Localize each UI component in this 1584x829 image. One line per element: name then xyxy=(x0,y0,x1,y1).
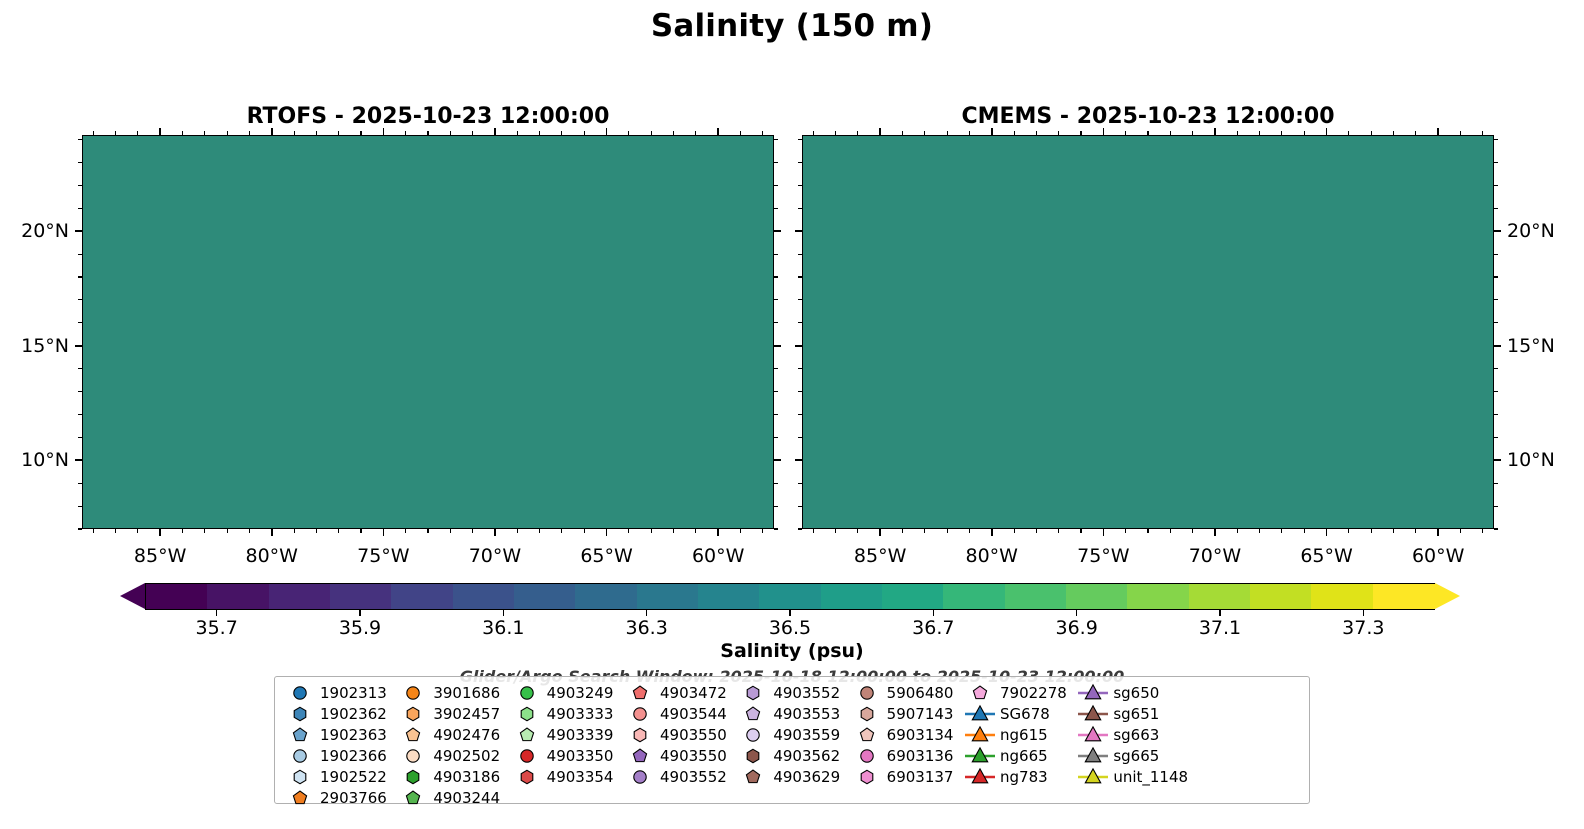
argo-float-marker-icon xyxy=(510,746,544,766)
x-axis-tick-label: 60°W xyxy=(692,545,744,567)
x-axis-major-tick xyxy=(606,128,608,135)
colorbar-segment xyxy=(146,584,208,609)
colorbar-tick xyxy=(503,610,504,616)
y-axis-minor-tick xyxy=(78,254,82,255)
x-axis-minor-tick xyxy=(472,529,473,533)
x-axis-minor-tick xyxy=(1036,131,1037,135)
legend-item[interactable]: sg651 xyxy=(1076,703,1189,724)
x-axis-minor-tick xyxy=(427,131,428,135)
salinity-field-cmems xyxy=(803,136,1493,529)
y-axis-minor-tick xyxy=(78,185,82,186)
colorbar-tick xyxy=(359,610,360,616)
y-axis-minor-tick xyxy=(798,139,802,140)
x-axis-minor-tick xyxy=(857,529,858,533)
colorbar-tick xyxy=(1076,610,1077,616)
legend-item[interactable]: 4903339 xyxy=(510,724,623,745)
legend-item[interactable]: 1902313 xyxy=(283,682,396,703)
colorbar-tick xyxy=(216,610,217,616)
legend-item-label: ng783 xyxy=(997,768,1048,786)
colorbar-tick-label: 37.3 xyxy=(1342,617,1384,639)
colorbar-segment xyxy=(1373,584,1435,609)
x-axis-minor-tick xyxy=(1170,529,1171,533)
x-axis-minor-tick xyxy=(584,529,585,533)
y-axis-minor-tick xyxy=(1494,528,1498,529)
x-axis-minor-tick xyxy=(93,131,94,135)
argo-float-marker-icon xyxy=(736,746,770,766)
x-axis-minor-tick xyxy=(360,131,361,135)
x-axis-minor-tick xyxy=(1281,131,1282,135)
x-axis-minor-tick xyxy=(695,131,696,135)
x-axis-major-tick xyxy=(1214,529,1216,536)
map-panel-rtofs: RTOFS - 2025-10-23 12:00:00 85°W80°W75°W… xyxy=(82,135,774,529)
y-axis-minor-tick xyxy=(1494,254,1498,255)
legend-item-label: 4903629 xyxy=(770,768,840,786)
legend-item[interactable]: SG678 xyxy=(963,703,1076,724)
x-axis-major-tick xyxy=(1326,529,1328,536)
x-axis-minor-tick xyxy=(249,529,250,533)
map-axes-rtofs[interactable] xyxy=(82,135,774,529)
legend-item-label: 6903137 xyxy=(884,768,954,786)
y-axis-minor-tick xyxy=(78,208,82,209)
legend-item[interactable]: ng783 xyxy=(963,766,1076,787)
x-axis-minor-tick xyxy=(1460,529,1461,533)
legend-item[interactable]: 4903544 xyxy=(623,703,736,724)
legend-item[interactable]: 6903134 xyxy=(850,724,963,745)
legend-item[interactable]: 6903136 xyxy=(850,745,963,766)
colorbar-segment xyxy=(821,584,883,609)
x-axis-minor-tick xyxy=(115,529,116,533)
legend-item[interactable]: 7902278 xyxy=(963,682,1076,703)
glider-marker-icon xyxy=(1076,704,1110,724)
x-axis-minor-tick xyxy=(561,131,562,135)
x-axis-major-tick xyxy=(159,128,161,135)
y-axis-major-tick xyxy=(75,345,82,347)
colorbar-tick-label: 36.3 xyxy=(626,617,668,639)
x-axis-minor-tick xyxy=(969,131,970,135)
x-axis-major-tick xyxy=(494,128,496,135)
x-axis-minor-tick xyxy=(651,131,652,135)
platform-legend[interactable]: 1902313190236219023631902366190252229037… xyxy=(274,676,1310,804)
legend-item[interactable]: 4903472 xyxy=(623,682,736,703)
y-axis-tick-label: 15°N xyxy=(21,335,69,357)
y-axis-minor-tick xyxy=(774,299,778,300)
legend-item-label: 4903550 xyxy=(657,747,727,765)
x-axis-minor-tick xyxy=(517,529,518,533)
y-axis-tick-label: 15°N xyxy=(1507,335,1555,357)
y-axis-minor-tick xyxy=(798,254,802,255)
x-axis-minor-tick xyxy=(628,131,629,135)
legend-item-label: 1902522 xyxy=(317,768,387,786)
figure-suptitle: Salinity (150 m) xyxy=(0,8,1584,44)
legend-item[interactable]: 3901686 xyxy=(396,682,509,703)
x-axis-minor-tick xyxy=(740,529,741,533)
legend-item[interactable]: 5907143 xyxy=(850,703,963,724)
y-axis-tick-label: 10°N xyxy=(21,449,69,471)
x-axis-minor-tick xyxy=(902,529,903,533)
legend-item[interactable]: 1902366 xyxy=(283,745,396,766)
x-axis-major-tick xyxy=(1103,529,1105,536)
legend-item-label: 6903134 xyxy=(884,726,954,744)
x-axis-tick-label: 85°W xyxy=(134,545,186,567)
argo-float-marker-icon xyxy=(396,725,430,745)
map-axes-cmems[interactable] xyxy=(802,135,1494,529)
x-axis-minor-tick xyxy=(1281,529,1282,533)
legend-item-label: sg651 xyxy=(1110,705,1159,723)
legend-item[interactable]: 4903550 xyxy=(623,724,736,745)
argo-float-marker-icon xyxy=(850,725,884,745)
colorbar-tick-label: 36.5 xyxy=(769,617,811,639)
x-axis-minor-tick xyxy=(1170,131,1171,135)
legend-item[interactable]: 4903186 xyxy=(396,766,509,787)
y-axis-minor-tick xyxy=(1494,437,1498,438)
y-axis-minor-tick xyxy=(798,322,802,323)
x-axis-minor-tick xyxy=(227,529,228,533)
colorbar-tick xyxy=(1219,610,1220,616)
y-axis-minor-tick xyxy=(78,506,82,507)
legend-item[interactable]: 3902457 xyxy=(396,703,509,724)
legend-item[interactable]: 4903550 xyxy=(623,745,736,766)
y-axis-tick-label: 20°N xyxy=(21,220,69,242)
x-axis-minor-tick xyxy=(1371,131,1372,135)
colorbar-segment xyxy=(1311,584,1373,609)
y-axis-major-tick xyxy=(795,345,802,347)
y-axis-minor-tick xyxy=(798,185,802,186)
glider-marker-icon xyxy=(963,767,997,787)
legend-item[interactable]: 4903350 xyxy=(510,745,623,766)
y-axis-major-tick xyxy=(795,459,802,461)
x-axis-minor-tick xyxy=(1058,131,1059,135)
x-axis-minor-tick xyxy=(316,529,317,533)
legend-item-label: 4903333 xyxy=(544,705,614,723)
figure-canvas: Salinity (150 m) RTOFS - 2025-10-23 12:0… xyxy=(0,0,1584,829)
x-axis-minor-tick xyxy=(857,131,858,135)
legend-item[interactable]: unit_1148 xyxy=(1076,766,1189,787)
salinity-field-rtofs xyxy=(83,136,773,529)
y-axis-minor-tick xyxy=(798,437,802,438)
x-axis-tick-label: 75°W xyxy=(1077,545,1129,567)
y-axis-minor-tick xyxy=(774,139,778,140)
colorbar-segment xyxy=(330,584,392,609)
y-axis-minor-tick xyxy=(774,483,778,484)
y-axis-minor-tick xyxy=(1494,391,1498,392)
argo-float-marker-icon xyxy=(283,746,317,766)
y-axis-major-tick xyxy=(774,345,781,347)
y-axis-minor-tick xyxy=(774,391,778,392)
x-axis-major-tick xyxy=(383,529,385,536)
colorbar-tick-label: 36.7 xyxy=(912,617,954,639)
x-axis-minor-tick xyxy=(360,529,361,533)
x-axis-minor-tick xyxy=(1080,131,1081,135)
x-axis-major-tick xyxy=(271,529,273,536)
x-axis-tick-label: 70°W xyxy=(1189,545,1241,567)
y-axis-minor-tick xyxy=(798,162,802,163)
legend-spacer xyxy=(623,787,736,808)
legend-item[interactable]: 4902476 xyxy=(396,724,509,745)
legend-item[interactable]: 4903629 xyxy=(736,766,849,787)
y-axis-minor-tick xyxy=(774,414,778,415)
x-axis-minor-tick xyxy=(762,529,763,533)
colorbar-segment xyxy=(759,584,821,609)
panel-title-cmems: CMEMS - 2025-10-23 12:00:00 xyxy=(802,104,1494,129)
x-axis-minor-tick xyxy=(338,131,339,135)
x-axis-major-tick xyxy=(383,128,385,135)
x-axis-minor-tick xyxy=(1237,529,1238,533)
x-axis-minor-tick xyxy=(249,131,250,135)
x-axis-tick-label: 60°W xyxy=(1412,545,1464,567)
x-axis-tick-label: 65°W xyxy=(580,545,632,567)
x-axis-minor-tick xyxy=(1192,131,1193,135)
legend-item[interactable]: 4903559 xyxy=(736,724,849,745)
argo-float-marker-icon xyxy=(283,725,317,745)
x-axis-minor-tick xyxy=(924,529,925,533)
legend-item-label: 4903339 xyxy=(544,726,614,744)
x-axis-minor-tick xyxy=(1348,131,1349,135)
y-axis-minor-tick xyxy=(1494,208,1498,209)
x-axis-minor-tick xyxy=(182,131,183,135)
x-axis-minor-tick xyxy=(1237,131,1238,135)
legend-item[interactable]: 4903552 xyxy=(623,766,736,787)
colorbar-gradient xyxy=(145,583,1435,610)
y-axis-minor-tick xyxy=(774,506,778,507)
y-axis-minor-tick xyxy=(78,483,82,484)
legend-item[interactable]: 4903244 xyxy=(396,787,509,808)
x-axis-minor-tick xyxy=(740,131,741,135)
y-axis-minor-tick xyxy=(1494,276,1498,277)
argo-float-marker-icon xyxy=(623,683,657,703)
y-axis-minor-tick xyxy=(78,528,82,529)
argo-float-marker-icon xyxy=(850,683,884,703)
argo-float-marker-icon xyxy=(510,767,544,787)
argo-float-marker-icon xyxy=(850,746,884,766)
x-axis-minor-tick xyxy=(1393,529,1394,533)
legend-item[interactable]: 4903249 xyxy=(510,682,623,703)
x-axis-major-tick xyxy=(991,529,993,536)
legend-item-label: 1902366 xyxy=(317,747,387,765)
colorbar-tick xyxy=(933,610,934,616)
legend-spacer xyxy=(1076,787,1189,808)
colorbar-segment xyxy=(1189,584,1251,609)
legend-item[interactable]: 6903137 xyxy=(850,766,963,787)
legend-item-label: 4902502 xyxy=(430,747,500,765)
argo-float-marker-icon xyxy=(736,704,770,724)
x-axis-minor-tick xyxy=(1014,131,1015,135)
argo-float-marker-icon xyxy=(283,767,317,787)
argo-float-marker-icon xyxy=(396,683,430,703)
legend-item-label: sg650 xyxy=(1110,684,1159,702)
colorbar-tick xyxy=(789,610,790,616)
colorbar-tick-label: 37.1 xyxy=(1199,617,1241,639)
x-axis-minor-tick xyxy=(1415,131,1416,135)
x-axis-minor-tick xyxy=(1259,529,1260,533)
x-axis-major-tick xyxy=(717,128,719,135)
x-axis-tick-label: 75°W xyxy=(357,545,409,567)
x-axis-minor-tick xyxy=(1014,529,1015,533)
x-axis-minor-tick xyxy=(1304,131,1305,135)
legend-item[interactable]: 4903562 xyxy=(736,745,849,766)
y-axis-minor-tick xyxy=(78,414,82,415)
x-axis-minor-tick xyxy=(1147,131,1148,135)
legend-item-label: 4903544 xyxy=(657,705,727,723)
legend-spacer xyxy=(736,787,849,808)
legend-item[interactable]: 1902362 xyxy=(283,703,396,724)
y-axis-minor-tick xyxy=(78,162,82,163)
legend-item[interactable]: sg665 xyxy=(1076,745,1189,766)
y-axis-minor-tick xyxy=(1494,414,1498,415)
y-axis-minor-tick xyxy=(1494,162,1498,163)
colorbar-segment xyxy=(514,584,576,609)
x-axis-minor-tick xyxy=(695,529,696,533)
argo-float-marker-icon xyxy=(283,683,317,703)
x-axis-minor-tick xyxy=(137,529,138,533)
colorbar-extend-min-arrow xyxy=(120,583,145,609)
y-axis-major-tick xyxy=(774,459,781,461)
colorbar-segment xyxy=(391,584,453,609)
y-axis-major-tick xyxy=(1494,459,1501,461)
y-axis-minor-tick xyxy=(78,322,82,323)
x-axis-minor-tick xyxy=(924,131,925,135)
glider-marker-icon xyxy=(1076,683,1110,703)
x-axis-minor-tick xyxy=(651,529,652,533)
legend-item-label: 5906480 xyxy=(884,684,954,702)
x-axis-major-tick xyxy=(1437,529,1439,536)
legend-item-label: 4903552 xyxy=(770,684,840,702)
x-axis-minor-tick xyxy=(539,529,540,533)
y-axis-minor-tick xyxy=(1494,322,1498,323)
y-axis-minor-tick xyxy=(798,506,802,507)
colorbar-segment xyxy=(453,584,515,609)
legend-item-label: 4903249 xyxy=(544,684,614,702)
legend-item-label: sg663 xyxy=(1110,726,1159,744)
x-axis-minor-tick xyxy=(405,529,406,533)
legend-item[interactable]: 2903766 xyxy=(283,787,396,808)
y-axis-major-tick xyxy=(774,230,781,232)
colorbar-segment xyxy=(269,584,331,609)
x-axis-minor-tick xyxy=(813,529,814,533)
colorbar-segment xyxy=(882,584,944,609)
legend-item[interactable]: 4903552 xyxy=(736,682,849,703)
colorbar: 35.735.936.136.336.536.736.937.137.3 xyxy=(120,583,1460,610)
y-axis-minor-tick xyxy=(1494,483,1498,484)
x-axis-minor-tick xyxy=(137,131,138,135)
glider-marker-icon xyxy=(1076,725,1110,745)
glider-marker-icon xyxy=(1076,746,1110,766)
x-axis-tick-label: 70°W xyxy=(469,545,521,567)
legend-item-label: 3902457 xyxy=(430,705,500,723)
legend-item[interactable]: 4902502 xyxy=(396,745,509,766)
glider-marker-icon xyxy=(963,746,997,766)
y-axis-minor-tick xyxy=(1494,139,1498,140)
y-axis-minor-tick xyxy=(798,208,802,209)
argo-float-marker-icon xyxy=(283,788,317,808)
x-axis-minor-tick xyxy=(947,131,948,135)
argo-float-marker-icon xyxy=(510,725,544,745)
legend-item-label: 4903244 xyxy=(430,789,500,807)
y-axis-minor-tick xyxy=(78,368,82,369)
glider-marker-icon xyxy=(963,704,997,724)
legend-item-label: 4903550 xyxy=(657,726,727,744)
colorbar-tick-label: 35.7 xyxy=(196,617,238,639)
y-axis-major-tick xyxy=(75,459,82,461)
colorbar-segment xyxy=(1066,584,1128,609)
legend-item[interactable]: 5906480 xyxy=(850,682,963,703)
y-axis-minor-tick xyxy=(1494,368,1498,369)
x-axis-major-tick xyxy=(271,128,273,135)
legend-item-label: 4903552 xyxy=(657,768,727,786)
legend-item[interactable]: sg663 xyxy=(1076,724,1189,745)
colorbar-tick-label: 36.1 xyxy=(482,617,524,639)
colorbar-segment xyxy=(698,584,760,609)
x-axis-minor-tick xyxy=(1460,131,1461,135)
y-axis-minor-tick xyxy=(798,483,802,484)
x-axis-minor-tick xyxy=(1125,131,1126,135)
legend-item-label: ng615 xyxy=(997,726,1048,744)
x-axis-minor-tick xyxy=(1482,529,1483,533)
y-axis-major-tick xyxy=(795,230,802,232)
y-axis-minor-tick xyxy=(78,299,82,300)
x-axis-minor-tick xyxy=(1080,529,1081,533)
x-axis-minor-tick xyxy=(1192,529,1193,533)
legend-item[interactable]: 1902522 xyxy=(283,766,396,787)
x-axis-minor-tick xyxy=(1393,131,1394,135)
x-axis-minor-tick xyxy=(316,131,317,135)
x-axis-minor-tick xyxy=(93,529,94,533)
colorbar-extend-max-arrow xyxy=(1435,583,1460,609)
argo-float-marker-icon xyxy=(396,704,430,724)
y-axis-minor-tick xyxy=(798,276,802,277)
y-axis-minor-tick xyxy=(1494,185,1498,186)
legend-item[interactable]: 4903333 xyxy=(510,703,623,724)
x-axis-minor-tick xyxy=(539,131,540,135)
x-axis-minor-tick xyxy=(182,529,183,533)
map-panel-cmems: CMEMS - 2025-10-23 12:00:00 85°W80°W75°W… xyxy=(802,135,1494,529)
colorbar-segment xyxy=(207,584,269,609)
x-axis-major-tick xyxy=(494,529,496,536)
argo-float-marker-icon xyxy=(283,704,317,724)
legend-item[interactable]: ng615 xyxy=(963,724,1076,745)
argo-float-marker-icon xyxy=(850,704,884,724)
argo-float-marker-icon xyxy=(963,683,997,703)
argo-float-marker-icon xyxy=(396,788,430,808)
legend-item[interactable]: 1902363 xyxy=(283,724,396,745)
legend-spacer xyxy=(963,787,1076,808)
argo-float-marker-icon xyxy=(510,683,544,703)
y-axis-minor-tick xyxy=(78,437,82,438)
y-axis-minor-tick xyxy=(774,208,778,209)
legend-item-label: 1902313 xyxy=(317,684,387,702)
legend-item-label: 5907143 xyxy=(884,705,954,723)
legend-item-label: 4903553 xyxy=(770,705,840,723)
legend-item-label: ng665 xyxy=(997,747,1048,765)
x-axis-minor-tick xyxy=(204,131,205,135)
x-axis-tick-label: 65°W xyxy=(1300,545,1352,567)
legend-item[interactable]: sg650 xyxy=(1076,682,1189,703)
x-axis-major-tick xyxy=(606,529,608,536)
legend-item[interactable]: ng665 xyxy=(963,745,1076,766)
panel-title-rtofs: RTOFS - 2025-10-23 12:00:00 xyxy=(82,104,774,129)
argo-float-marker-icon xyxy=(736,767,770,787)
x-axis-minor-tick xyxy=(294,529,295,533)
legend-item[interactable]: 4903354 xyxy=(510,766,623,787)
x-axis-minor-tick xyxy=(1304,529,1305,533)
colorbar-tick xyxy=(646,610,647,616)
x-axis-minor-tick xyxy=(472,131,473,135)
colorbar-tick xyxy=(1363,610,1364,616)
y-axis-minor-tick xyxy=(78,391,82,392)
legend-item[interactable]: 4903553 xyxy=(736,703,849,724)
y-axis-minor-tick xyxy=(774,322,778,323)
y-axis-minor-tick xyxy=(774,437,778,438)
x-axis-minor-tick xyxy=(1036,529,1037,533)
